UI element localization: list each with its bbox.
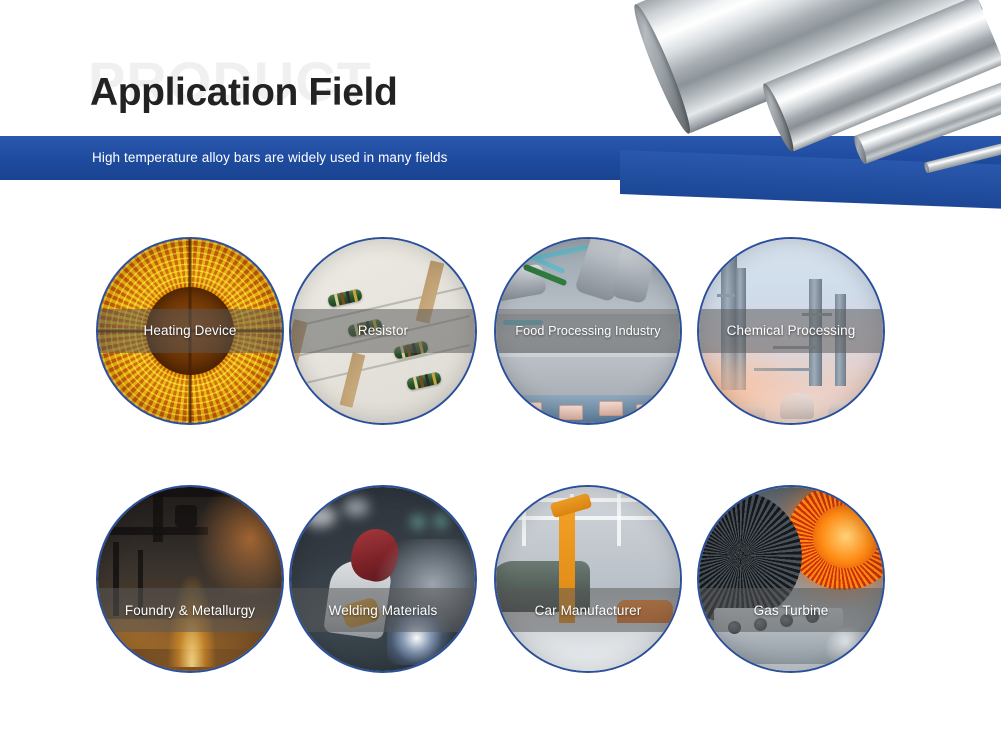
card-circle: Welding Materials — [289, 485, 477, 673]
card-foundry-metallurgy[interactable]: Foundry & Metallurgy — [96, 485, 284, 673]
card-chemical-processing[interactable]: Chemical Processing — [697, 237, 885, 425]
card-label-band: Heating Device — [98, 309, 282, 353]
card-circle: Food Processing Industry — [494, 237, 682, 425]
card-label: Resistor — [358, 324, 408, 338]
card-circle: Foundry & Metallurgy — [96, 485, 284, 673]
scene-welding-materials — [291, 487, 475, 671]
card-label-band: Chemical Processing — [699, 309, 883, 353]
card-circle: Chemical Processing — [697, 237, 885, 425]
scene-gas-turbine — [699, 487, 883, 671]
card-label-band: Resistor — [291, 309, 475, 353]
card-label: Heating Device — [144, 324, 237, 338]
card-label: Gas Turbine — [754, 604, 829, 618]
card-circle: Heating Device — [96, 237, 284, 425]
card-food-processing-industry[interactable]: Food Processing Industry — [494, 237, 682, 425]
card-circle: Gas Turbine — [697, 485, 885, 673]
card-welding-materials[interactable]: Welding Materials — [289, 485, 477, 673]
card-label: Chemical Processing — [727, 324, 856, 338]
card-label-band: Gas Turbine — [699, 588, 883, 632]
card-label: Car Manufacturer — [535, 604, 642, 618]
scene-foundry-metallurgy — [98, 487, 282, 671]
card-resistor[interactable]: Resistor — [289, 237, 477, 425]
card-label: Food Processing Industry — [515, 325, 660, 338]
card-car-manufacturer[interactable]: Car Manufacturer — [494, 485, 682, 673]
card-label-band: Food Processing Industry — [496, 309, 680, 353]
application-field-slide: PRODUCT Application Field High temperatu… — [0, 0, 1001, 737]
card-label: Welding Materials — [329, 604, 438, 618]
scene-car-manufacturer — [496, 487, 680, 671]
card-gas-turbine[interactable]: Gas Turbine — [697, 485, 885, 673]
card-label-band: Welding Materials — [291, 588, 475, 632]
card-label-band: Foundry & Metallurgy — [98, 588, 282, 632]
card-heating-device[interactable]: Heating Device — [96, 237, 284, 425]
card-label-band: Car Manufacturer — [496, 588, 680, 632]
card-circle: Car Manufacturer — [494, 485, 682, 673]
application-card-grid: Heating Device — [0, 0, 1001, 737]
card-label: Foundry & Metallurgy — [125, 604, 255, 618]
card-circle: Resistor — [289, 237, 477, 425]
